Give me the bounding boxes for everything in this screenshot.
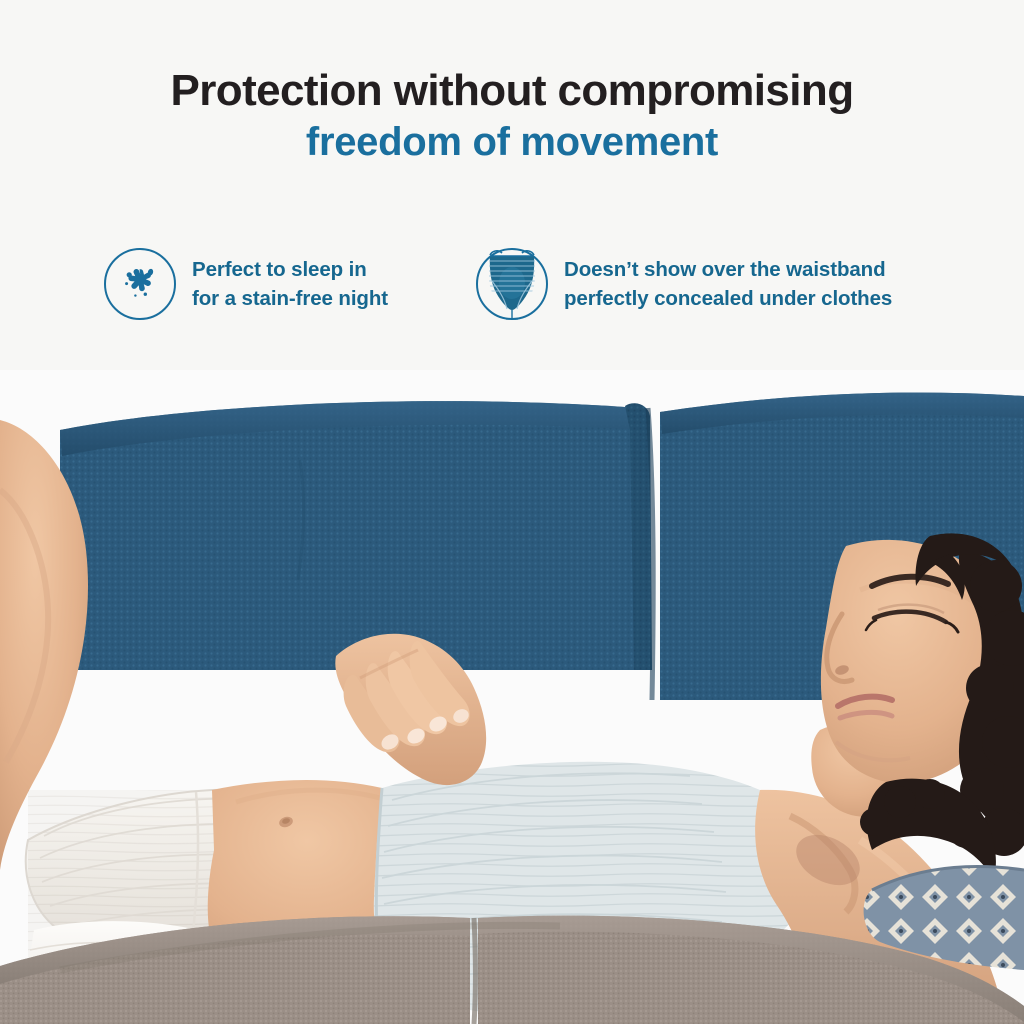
lifestyle-photo: [0, 370, 1024, 1024]
headline: Protection without compromising freedom …: [0, 66, 1024, 166]
headline-line-1: Protection without compromising: [0, 66, 1024, 115]
feature-line-2: for a stain-free night: [192, 284, 388, 313]
stain-splat-icon: [104, 248, 176, 320]
brief-underwear-icon: [476, 248, 548, 320]
feature-line-1: Perfect to sleep in: [192, 255, 388, 284]
feature-text-concealed: Doesn’t show over the waistband perfectl…: [564, 255, 892, 313]
feature-item-stain-free: Perfect to sleep in for a stain-free nig…: [104, 248, 388, 320]
feature-text-stain-free: Perfect to sleep in for a stain-free nig…: [192, 255, 388, 313]
feature-line-2: perfectly concealed under clothes: [564, 284, 892, 313]
feature-item-concealed: Doesn’t show over the waistband perfectl…: [476, 248, 892, 320]
headline-line-2: freedom of movement: [0, 119, 1024, 166]
feature-line-1: Doesn’t show over the waistband: [564, 255, 892, 284]
feature-list: Perfect to sleep in for a stain-free nig…: [0, 248, 1024, 320]
promo-graphic: Protection without compromising freedom …: [0, 0, 1024, 1024]
